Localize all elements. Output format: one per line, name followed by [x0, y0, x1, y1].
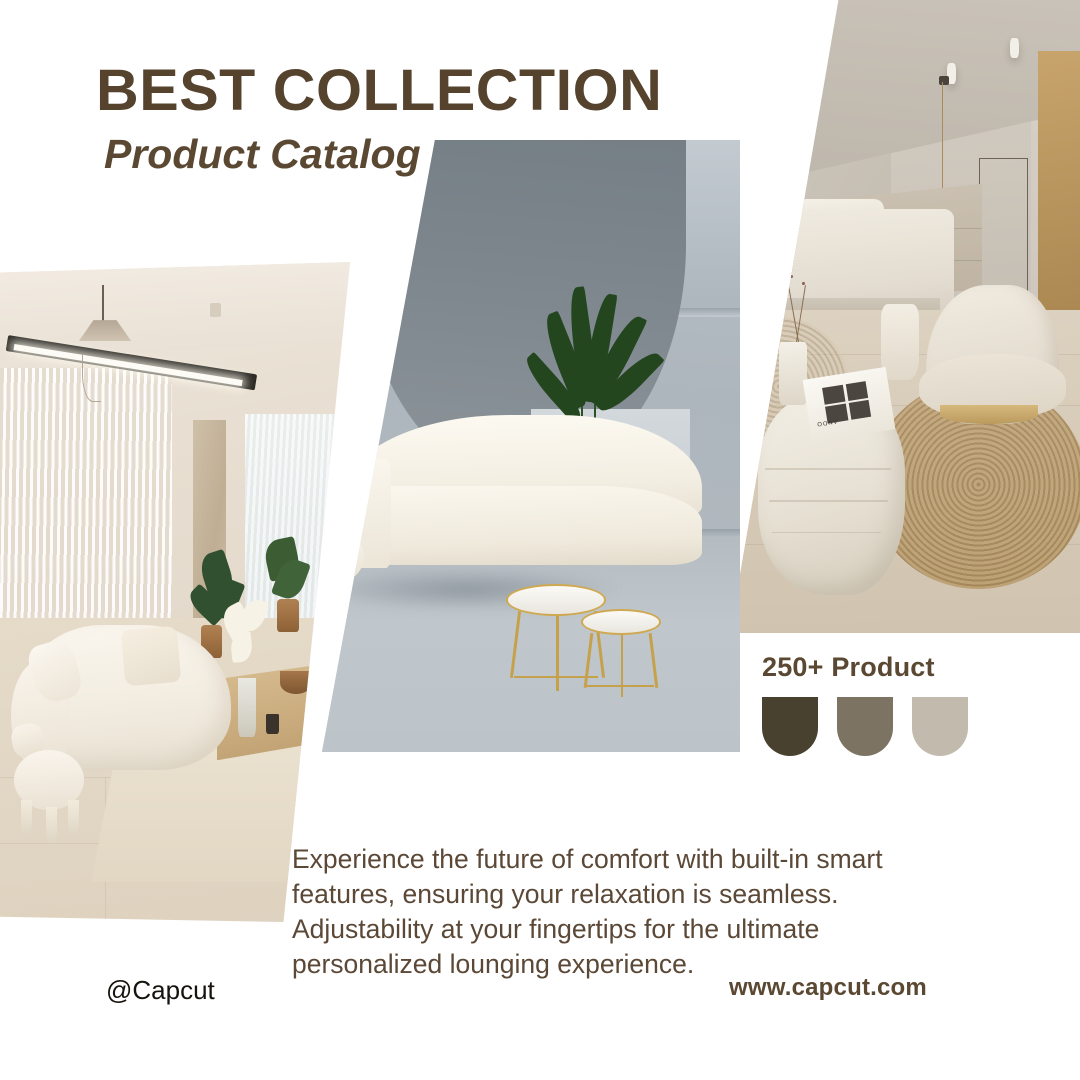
left-photo-scene	[0, 262, 350, 922]
right-photo-scene: ANDO	[730, 0, 1080, 633]
hanging-wire	[82, 354, 101, 401]
ceramic-vase	[779, 342, 807, 405]
round-pouf	[322, 532, 364, 581]
ceiling-spot-light	[1010, 38, 1019, 58]
dried-berry	[802, 282, 805, 285]
pendant-mount	[939, 76, 950, 85]
ottoman-leg	[68, 800, 79, 836]
stone-texture-line	[765, 468, 891, 470]
nesting-table-small	[581, 609, 660, 635]
description-text: Experience the future of comfort with bu…	[292, 842, 964, 983]
dried-berry	[790, 275, 793, 278]
magazine-image-cell	[849, 401, 871, 420]
right-interior-photo: ANDO	[730, 0, 1080, 633]
glass-vase	[238, 678, 256, 737]
left-interior-photo	[0, 262, 350, 922]
table-leg	[556, 611, 559, 691]
dark-cup	[266, 714, 279, 734]
ceiling-spot-light	[210, 303, 221, 318]
magazine-image-cell	[846, 382, 868, 401]
swatch-dark-olive[interactable]	[762, 697, 818, 756]
swatch-taupe[interactable]	[837, 697, 893, 756]
social-handle[interactable]: @Capcut	[106, 975, 215, 1006]
product-catalog-poster: BEST COLLECTION Product Catalog	[0, 0, 1080, 1080]
product-count-block: 250+ Product	[762, 652, 968, 756]
product-count-label: 250+ Product	[762, 652, 968, 683]
curvy-sofa-seat	[351, 486, 702, 566]
color-swatch-row	[762, 697, 968, 756]
nesting-table-large	[506, 584, 606, 616]
sofa-cushion	[120, 626, 181, 687]
swatch-light-beige[interactable]	[912, 697, 968, 756]
plant-pot	[277, 599, 300, 632]
center-photo-scene	[322, 140, 740, 752]
wood-wall-panel	[1038, 51, 1080, 317]
center-interior-photo	[322, 140, 740, 752]
small-side-stool	[881, 304, 920, 380]
page-subtitle: Product Catalog	[104, 134, 651, 175]
page-title: BEST COLLECTION	[96, 62, 662, 120]
pendant-rod	[102, 285, 104, 321]
table-leg	[621, 633, 624, 697]
table-cross-bar	[587, 685, 654, 688]
chair-brass-base	[940, 405, 1038, 424]
magazine-image-cell	[823, 386, 845, 405]
headline-block: BEST COLLECTION Product Catalog	[96, 62, 651, 175]
sofa-arm	[341, 458, 391, 568]
ottoman-leg	[21, 800, 32, 836]
ottoman-leg	[46, 807, 57, 843]
stone-texture-line	[769, 500, 888, 502]
website-url[interactable]: www.capcut.com	[729, 974, 927, 1002]
wooden-bowl	[280, 671, 312, 693]
stone-texture-line	[772, 532, 881, 534]
